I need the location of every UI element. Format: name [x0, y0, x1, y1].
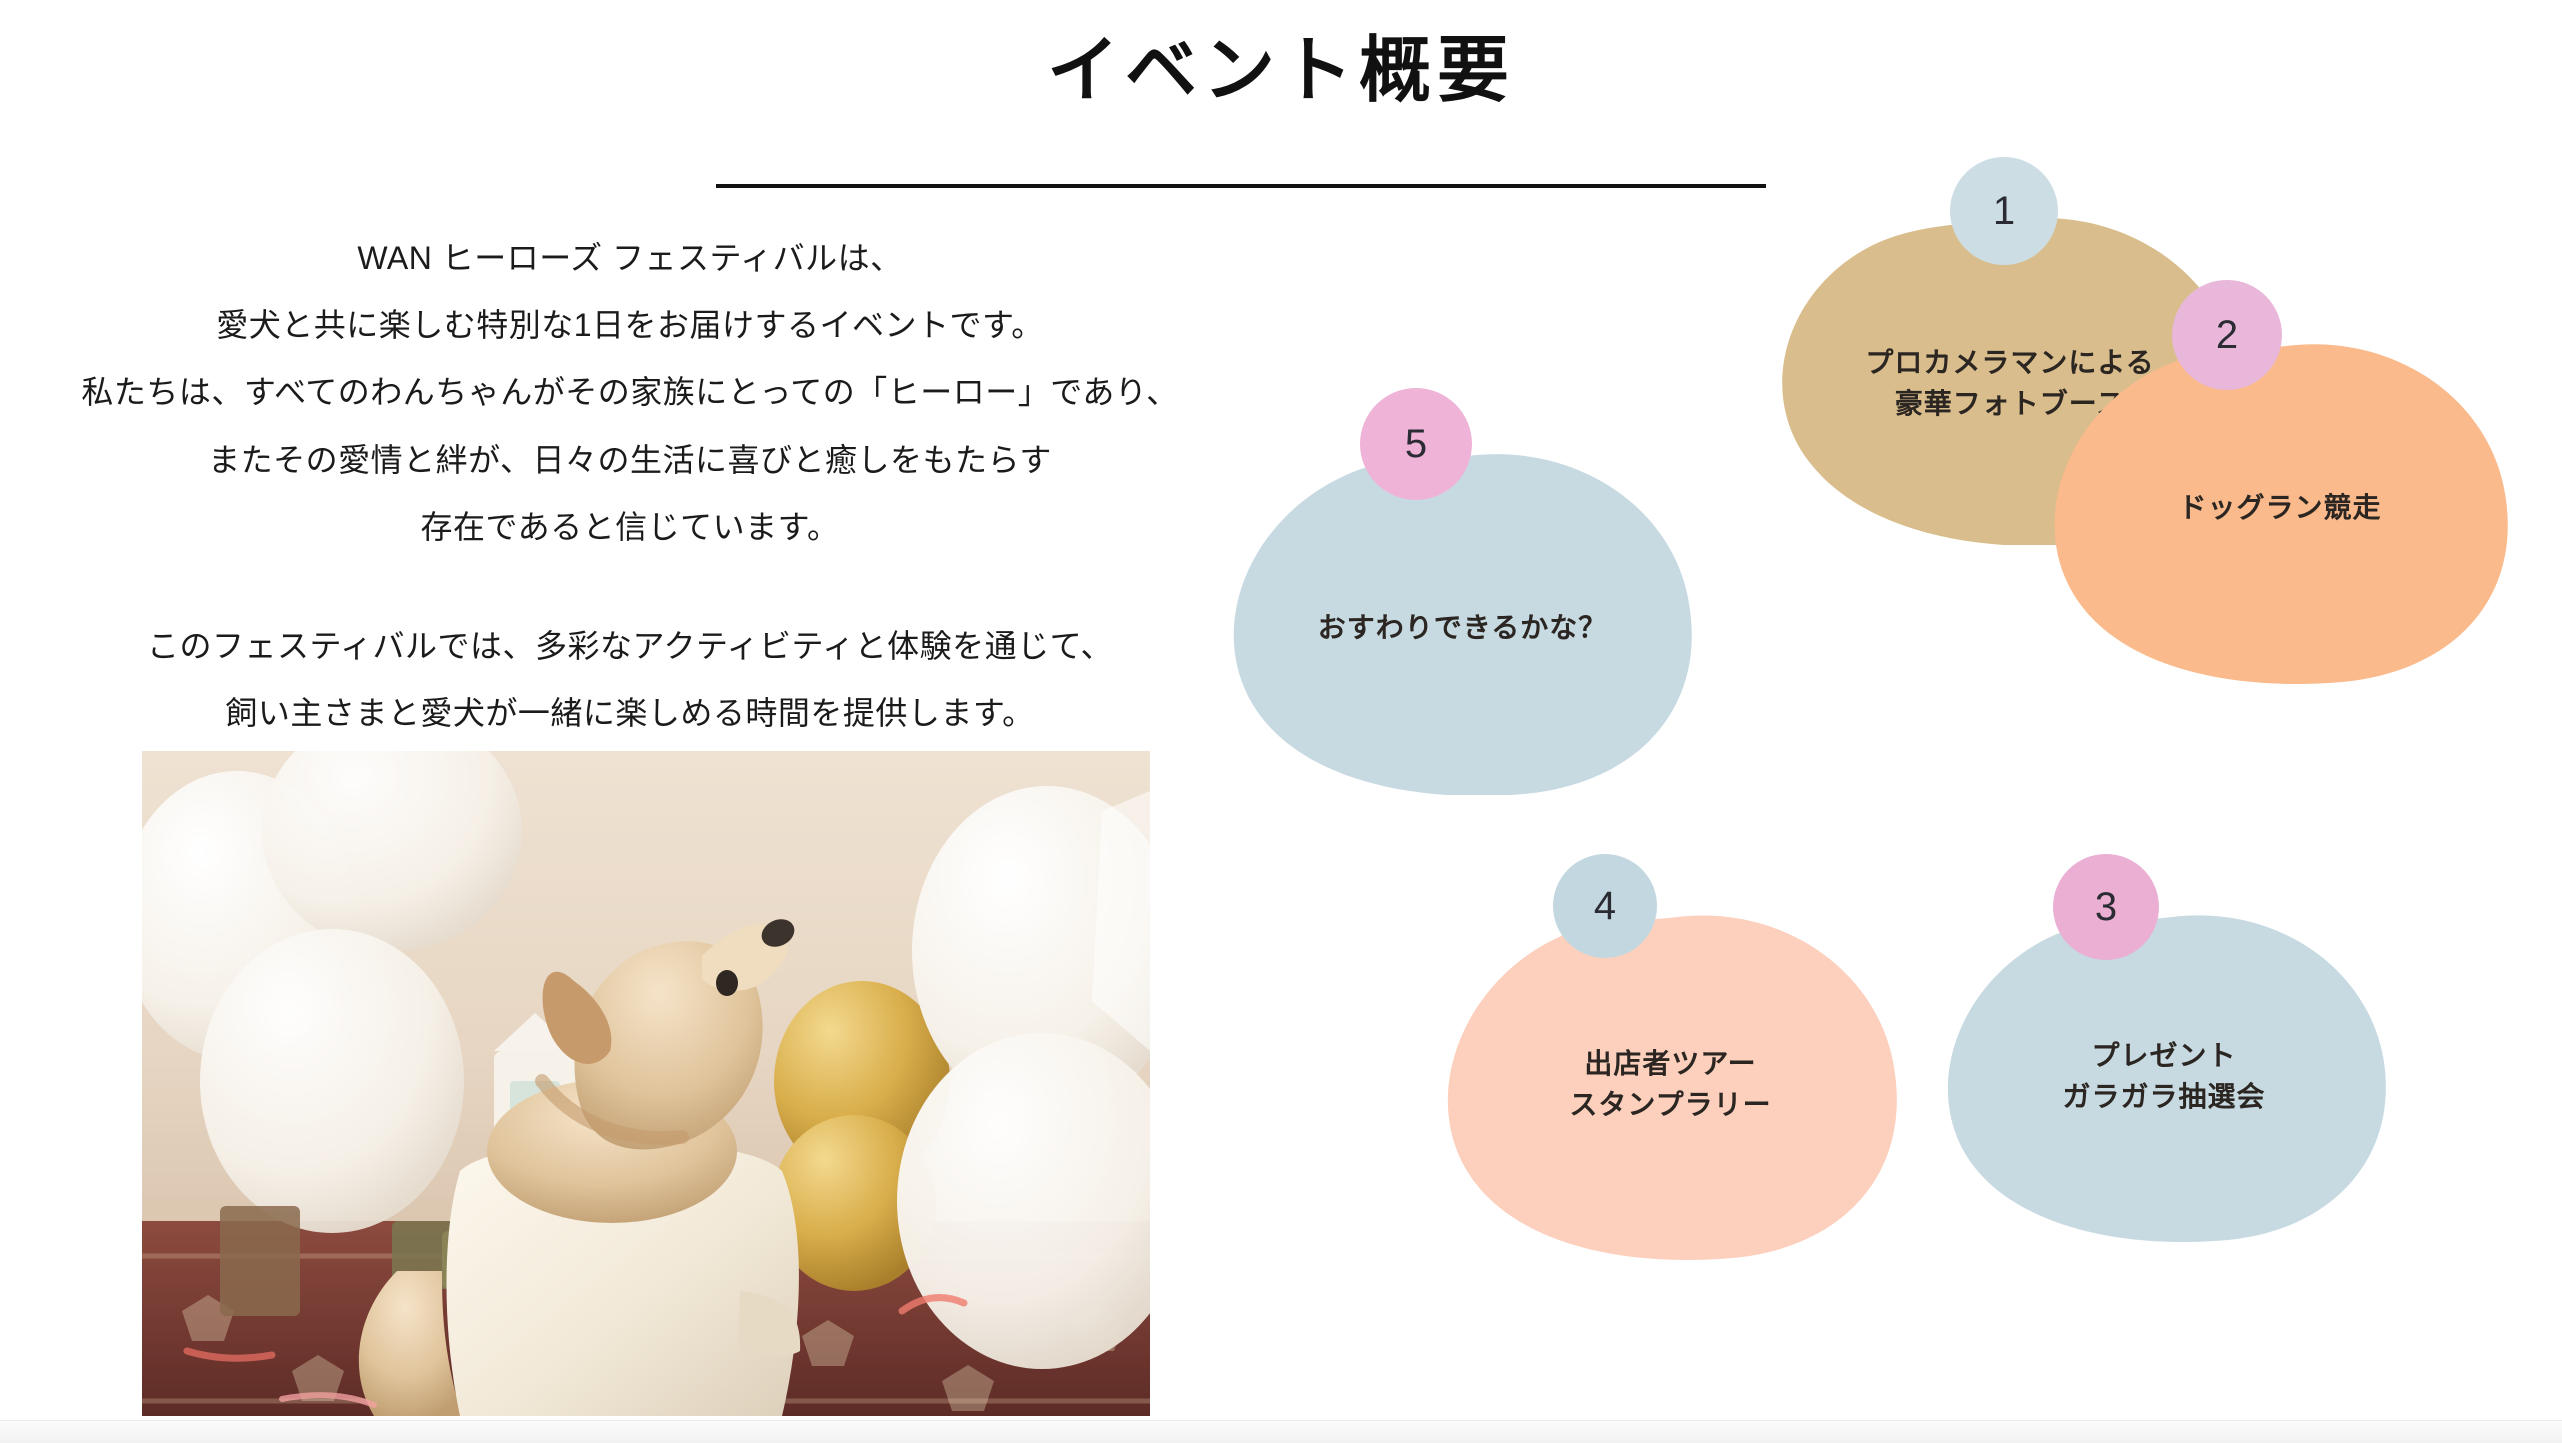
intro-line: WAN ヒーローズ フェスティバルは、	[40, 225, 1220, 292]
intro-paragraph-1: WAN ヒーローズ フェスティバルは、 愛犬と共に楽しむ特別な1日をお届けするイ…	[40, 225, 1220, 561]
page-title: イベント概要	[0, 30, 2562, 113]
activity-card-4[interactable]: 出店者ツアー スタンプラリー 4	[1443, 912, 1898, 1262]
activity-label-3: プレゼント ガラガラ抽選会	[1940, 1036, 2388, 1117]
paragraph-spacer	[40, 561, 1220, 613]
activity-number-1: 1	[1993, 189, 2015, 234]
activity-number-3: 3	[2095, 885, 2117, 930]
intro-line: 存在であると信じています。	[40, 494, 1220, 561]
activity-label-4: 出店者ツアー スタンプラリー	[1443, 1044, 1898, 1125]
activity-number-2: 2	[2216, 313, 2238, 358]
intro-line: 私たちは、すべてのわんちゃんがその家族にとっての「ヒーロー」であり、	[40, 359, 1220, 426]
activity-badge-2[interactable]: 2	[2172, 280, 2282, 390]
activity-card-2[interactable]: ドッグラン競走 2	[2050, 340, 2510, 685]
intro-line: 飼い主さまと愛犬が一緒に楽しめる時間を提供します。	[40, 680, 1220, 747]
intro-line: このフェスティバルでは、多彩なアクティビティと体験を通じて、	[40, 613, 1220, 680]
slide-canvas: イベント概要 WAN ヒーローズ フェスティバルは、 愛犬と共に楽しむ特別な1日…	[0, 0, 2562, 1420]
activity-number-5: 5	[1405, 422, 1427, 467]
activity-card-5[interactable]: おすわりできるかな？ 5	[1230, 450, 1695, 795]
dog-photo	[142, 751, 1150, 1416]
intro-paragraph-2: このフェスティバルでは、多彩なアクティビティと体験を通じて、 飼い主さまと愛犬が…	[40, 613, 1220, 747]
title-divider	[716, 184, 1766, 188]
intro-line: 愛犬と共に楽しむ特別な1日をお届けするイベントです。	[40, 292, 1220, 359]
activity-number-4: 4	[1594, 884, 1616, 929]
activity-badge-5[interactable]: 5	[1360, 388, 1472, 500]
activity-badge-4[interactable]: 4	[1553, 854, 1657, 958]
activities-blob-diagram: プロカメラマンによる 豪華フォトブース 1 ドッグラン競走 2 プレゼント ガラ…	[1240, 215, 2562, 1395]
activity-label-5: おすわりできるかな？	[1230, 608, 1695, 649]
activity-badge-1[interactable]: 1	[1950, 157, 2058, 265]
intro-line: またその愛情と絆が、日々の生活に喜びと癒しをもたらす	[40, 427, 1220, 494]
intro-text-column: WAN ヒーローズ フェスティバルは、 愛犬と共に楽しむ特別な1日をお届けするイ…	[40, 225, 1220, 747]
activity-label-2: ドッグラン競走	[2050, 488, 2510, 529]
activity-card-3[interactable]: プレゼント ガラガラ抽選会 3	[1940, 912, 2388, 1242]
activity-badge-3[interactable]: 3	[2053, 854, 2159, 960]
slide-bottom-edge	[0, 1420, 2562, 1443]
